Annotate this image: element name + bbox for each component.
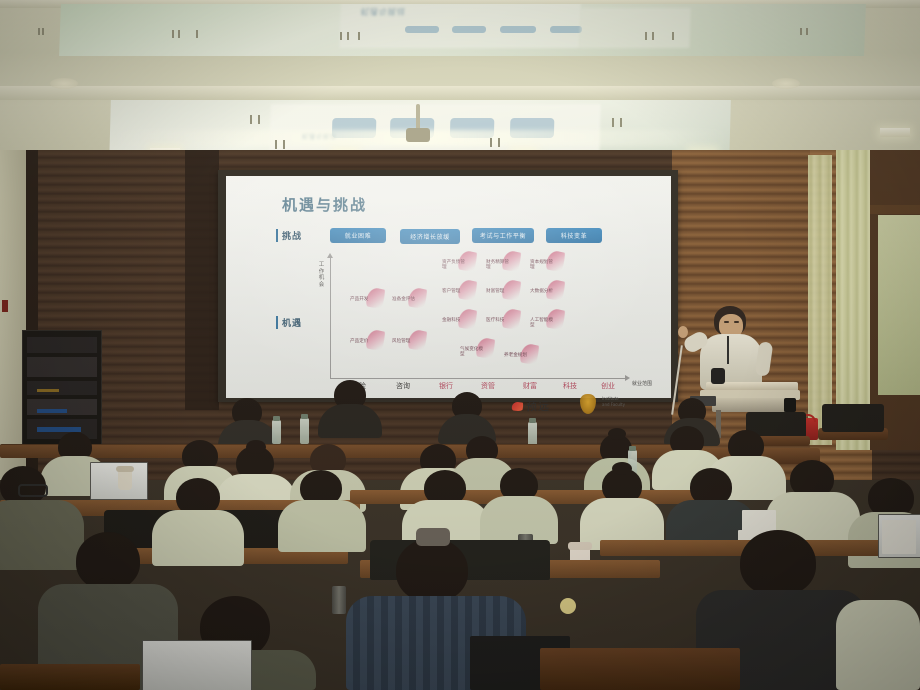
bubble-item: 金融科技 [442,309,476,331]
audience-hair-bun [612,462,632,475]
ceiling-glass-panel-upper: 机遇与挑战 [59,4,866,56]
audience-desk [0,444,700,458]
audience-shoulders [836,600,920,690]
paper-note [882,520,916,554]
projector-body [406,128,430,142]
audience-hair-bun [246,440,266,454]
speaker-eye [724,321,729,323]
row-accent-bar [276,229,278,242]
y-axis [330,258,331,378]
speaker-hand [678,326,688,338]
bubble-label: 人工智能模型 [530,318,556,329]
lecture-hall-photo: 机遇与挑战 机遇与挑战 [0,0,920,690]
bubble-label: 财务精算管理 [486,260,512,271]
bubble-label: 产品开发 [350,297,376,302]
bottle-cap [529,418,536,423]
bubble-label: 准备金评估 [392,297,418,302]
x-axis-label-3: 银行 [438,382,454,390]
chair-backrest [822,404,884,432]
podium-microphone [711,368,725,384]
audience-head [396,538,468,602]
hair-clip [416,528,450,546]
cup-lid [568,542,592,550]
bubble-item: 准备金评估 [392,288,426,310]
rack-status-led [37,389,59,392]
bubble-item: 风险管理 [392,330,426,352]
x-axis-label-4: 资管 [480,382,496,390]
snack-item [560,598,576,614]
bubble-label: 产品定价 [350,339,376,344]
slide-title: 机遇与挑战 [282,194,367,215]
ceiling-downlight [50,78,78,89]
water-bottle [300,418,309,444]
seat-front-panel [540,648,740,690]
brand-logo: 预远 [512,398,550,414]
podium-device [784,398,796,412]
crest-caption-line-1: Institute [602,396,634,401]
bubble-item: 医疗科技 [486,309,520,331]
audience-hair-bun [608,428,626,440]
opportunity-label-text: 机遇 [282,316,302,329]
bubble-item: 产品开发 [350,288,384,310]
rack-status-led [37,409,67,413]
bubble-item: 产品定价 [350,330,384,352]
ceiling-reflection-title: 机遇与挑战 [360,6,405,17]
wall-shadow-left-of-screen [185,150,219,410]
x-axis-label-6: 科技 [562,382,578,390]
challenge-button-1[interactable]: 就业困难 [330,228,386,243]
audience-shoulders [278,500,366,552]
audience-head [740,530,816,596]
challenge-button-2[interactable]: 经济增长放缓 [400,229,460,244]
seat-front-panel [0,664,140,690]
brand-logo-text: 预远 [526,398,550,414]
y-axis-label: 工作机会 [318,262,325,288]
bubble-item: 气候变化模型 [460,338,494,360]
bubble-label: 资本规划管理 [530,260,556,271]
bubble-item: 人工智能模型 [530,309,564,331]
bubble-label: 风险管理 [392,339,418,344]
crest-caption-line-2: and Faculty [602,402,638,407]
bubble-item: 客户管理 [442,280,476,302]
eyeglasses [18,484,48,497]
window-mullion [862,205,920,214]
opportunity-row-label: 机遇 [276,316,302,329]
bottle-cap [273,416,280,421]
thermos-tumbler [332,586,346,614]
challenge-button-4[interactable]: 科技变革 [546,228,602,243]
bubble-label: 金融科技 [442,318,468,323]
projector-screen[interactable]: 机遇与挑战 挑战 就业困难 经济增长放缓 考试与工作平衡 科技变革 机遇 工作机… [226,176,671,398]
bubble-item: 资产负债管理 [442,251,476,273]
bottle-cap [301,414,308,419]
audience-shoulders [318,404,382,438]
bubble-label: 客户管理 [442,289,468,294]
ceiling: 机遇与挑战 机遇与挑战 [0,0,920,175]
bubble-item: 养老金规划 [504,344,538,366]
bubble-item: 财务精算管理 [486,251,520,273]
cup-lid [116,466,134,472]
bubble-label: 资产负债管理 [442,260,468,271]
audience-shoulders [0,500,84,570]
x-axis-label-5: 财富 [522,382,538,390]
bubble-item: 财富管理 [486,280,520,302]
water-bottle [272,420,281,444]
av-equipment-rack[interactable] [22,330,102,447]
bubble-item: 资本规划管理 [530,251,564,273]
bubble-label: 大数据分析 [530,289,556,294]
bottle-cap [629,446,636,451]
coffee-cup [118,470,132,490]
y-axis-arrow [327,253,333,258]
challenge-label-text: 挑战 [282,229,302,242]
x-axis [330,378,626,379]
x-axis-label-2: 咨询 [396,382,410,390]
curtain [808,155,832,445]
row-accent-bar [276,316,278,329]
bubble-label: 养老金规划 [504,353,530,358]
podium-body [712,398,792,412]
ceiling-slot-light [880,128,910,137]
wall-indicator-light [2,300,8,312]
brand-swoosh-icon [511,401,523,411]
bubble-item: 大数据分析 [530,280,564,302]
water-bottle [528,422,537,446]
speaker-eye [734,321,739,323]
x-axis-label-7: 创业 [600,382,616,390]
x-axis-title: 就业范围 [630,380,654,388]
projector-mount [416,104,420,130]
audience-shoulders [152,510,244,566]
ceiling-downlight [772,78,800,89]
bubble-label: 气候变化模型 [460,347,486,358]
challenge-button-3[interactable]: 考试与工作平衡 [472,228,534,243]
bubble-label: 财富管理 [486,289,512,294]
audience-laptop-screen[interactable] [142,640,252,690]
challenge-row-label: 挑战 [276,229,302,242]
bubble-label: 医疗科技 [486,318,512,323]
lapel-mic-stem [727,336,729,364]
window-glass [878,215,920,395]
